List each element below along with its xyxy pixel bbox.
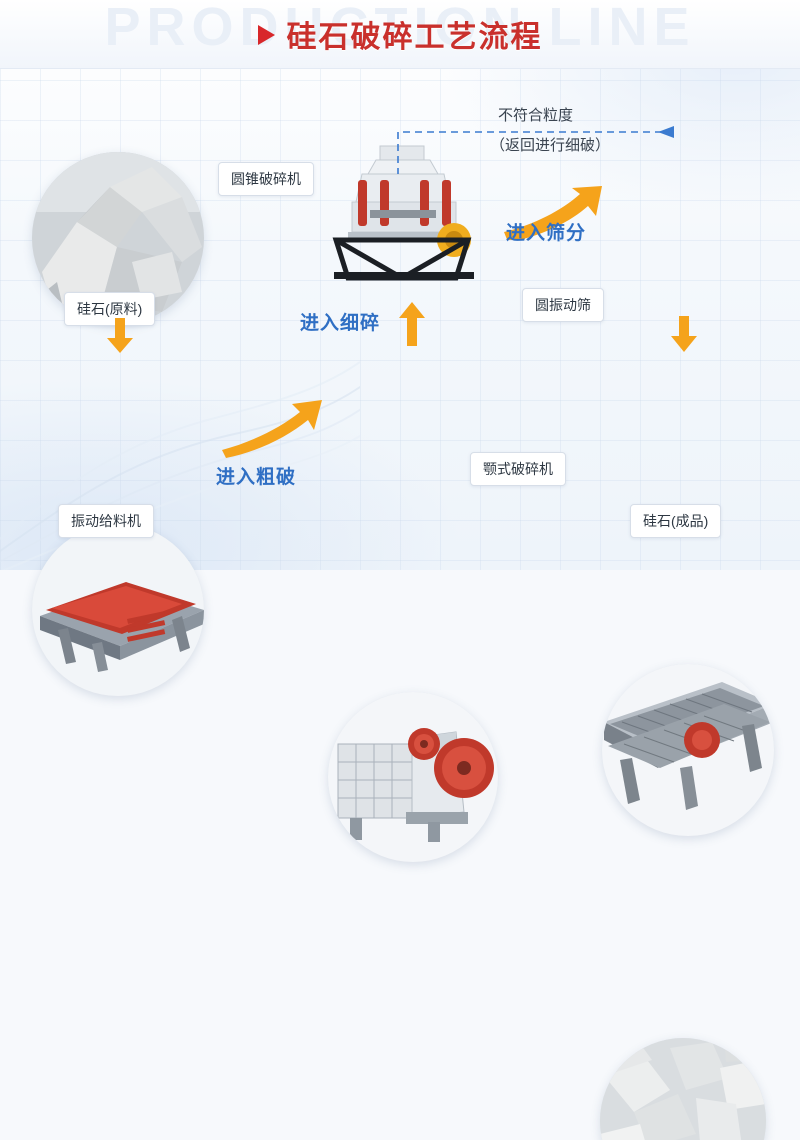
label-finished-product: 硅石(成品) bbox=[630, 504, 721, 538]
step-label-to-screen: 进入筛分 bbox=[506, 218, 586, 245]
page-title: 硅石破碎工艺流程 bbox=[287, 12, 543, 56]
arrow-screen-to-product bbox=[668, 316, 700, 354]
finished-silica-gravel-photo bbox=[600, 1038, 766, 1140]
node-finished-product-photo[interactable] bbox=[600, 1038, 766, 1140]
arrow-feeder-to-jaw bbox=[218, 398, 326, 458]
header-title-group: 硅石破碎工艺流程 bbox=[0, 0, 800, 68]
return-flow-line2: （返回进行细破） bbox=[490, 134, 610, 155]
label-vibrating-screen: 圆振动筛 bbox=[522, 288, 604, 322]
jaw-crusher-photo bbox=[328, 692, 498, 862]
step-label-to-fine: 进入细碎 bbox=[300, 308, 380, 335]
page-header: PRODUCTION LINE 硅石破碎工艺流程 bbox=[0, 0, 800, 69]
return-flow-line1: 不符合粒度 bbox=[498, 104, 573, 125]
node-vibrating-screen-photo[interactable] bbox=[602, 664, 774, 836]
label-vibrating-feeder: 振动给料机 bbox=[58, 504, 154, 538]
vibrating-feeder-photo bbox=[32, 524, 204, 696]
play-triangle-icon bbox=[258, 25, 275, 45]
label-cone-crusher: 圆锥破碎机 bbox=[218, 162, 314, 196]
circular-vibrating-screen-photo bbox=[602, 664, 774, 836]
node-jaw-crusher-photo[interactable] bbox=[328, 692, 498, 862]
arrow-raw-to-feeder bbox=[104, 318, 136, 354]
node-vibrating-feeder-photo[interactable] bbox=[32, 524, 204, 696]
step-label-to-coarse: 进入粗破 bbox=[216, 462, 296, 489]
label-jaw-crusher: 颚式破碎机 bbox=[470, 452, 566, 486]
arrow-jaw-to-cone bbox=[396, 300, 428, 346]
